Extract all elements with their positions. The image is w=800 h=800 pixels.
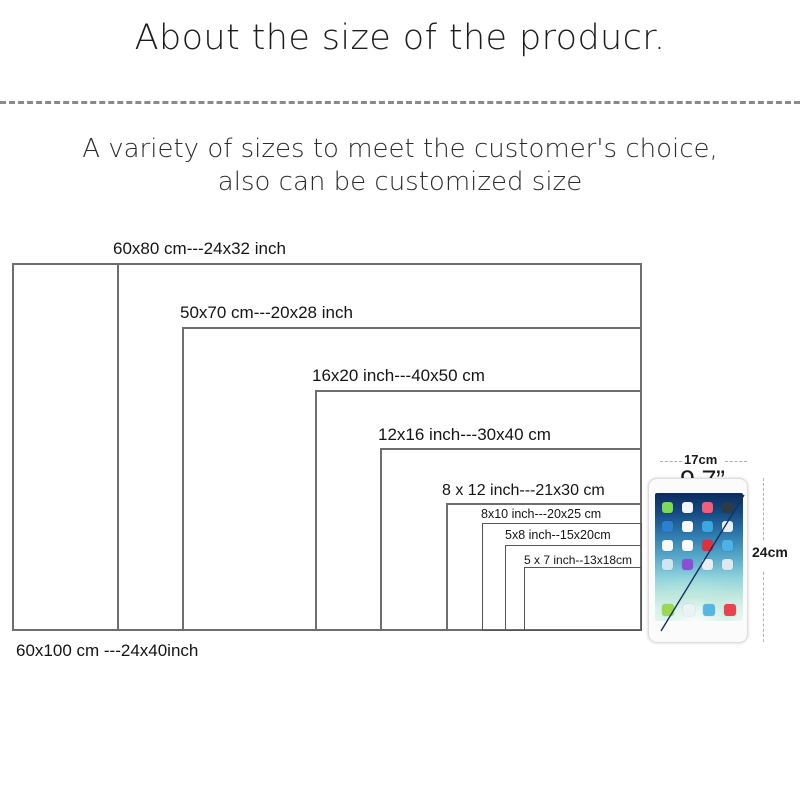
app-icon bbox=[682, 521, 693, 532]
app-icon bbox=[682, 502, 693, 513]
size-label-5x8: 5x8 inch--15x20cm bbox=[505, 528, 611, 542]
size-label-16x20: 16x20 inch---40x50 cm bbox=[312, 366, 485, 386]
size-label-8x10: 8x10 inch---20x25 cm bbox=[481, 507, 601, 521]
app-icon bbox=[722, 540, 733, 551]
tablet-height-label: 24cm bbox=[752, 544, 788, 560]
size-label-5x7: 5 x 7 inch--13x18cm bbox=[524, 553, 632, 567]
size-guide-page: About the size of the producr. A variety… bbox=[0, 0, 800, 800]
page-title: About the size of the producr. bbox=[0, 18, 800, 58]
size-label-60x80: 60x80 cm---24x32 inch bbox=[113, 239, 286, 259]
header-divider bbox=[0, 101, 800, 104]
app-icon bbox=[682, 559, 693, 570]
tablet-body bbox=[648, 478, 748, 643]
app-icon bbox=[702, 521, 713, 532]
app-icon bbox=[724, 604, 736, 616]
app-icon bbox=[662, 604, 674, 616]
app-icon bbox=[702, 540, 713, 551]
app-icon bbox=[722, 521, 733, 532]
subtitle-line-1: A variety of sizes to meet the customer'… bbox=[82, 134, 718, 164]
tablet-illustration bbox=[648, 478, 748, 643]
app-icon bbox=[703, 604, 715, 616]
app-icon bbox=[702, 502, 713, 513]
tablet-width-rule-right bbox=[725, 461, 747, 462]
app-icon bbox=[662, 521, 673, 532]
size-label-12x16: 12x16 inch---30x40 cm bbox=[378, 425, 551, 445]
size-label-50x70: 50x70 cm---20x28 inch bbox=[180, 303, 353, 323]
tablet-dock bbox=[662, 604, 736, 616]
size-label-8x12: 8 x 12 inch---21x30 cm bbox=[442, 482, 605, 500]
app-icon bbox=[722, 502, 733, 513]
size-box-5x7 bbox=[524, 567, 642, 631]
app-icon bbox=[682, 540, 693, 551]
subtitle-line-2: also can be customized size bbox=[0, 166, 800, 199]
size-label-60x100: 60x100 cm ---24x40inch bbox=[16, 641, 198, 661]
tablet-app-grid bbox=[662, 502, 736, 570]
tablet-width-rule-left bbox=[660, 461, 682, 462]
page-subtitle: A variety of sizes to meet the customer'… bbox=[0, 133, 800, 199]
app-icon bbox=[662, 502, 673, 513]
app-icon bbox=[662, 559, 673, 570]
tablet-screen bbox=[655, 493, 743, 621]
size-box-60x80-inner-divider bbox=[117, 263, 119, 631]
app-icon bbox=[662, 540, 673, 551]
app-icon bbox=[722, 559, 733, 570]
tablet-height-rule-top bbox=[763, 478, 764, 540]
app-icon bbox=[683, 604, 695, 616]
app-icon bbox=[702, 559, 713, 570]
tablet-height-rule-bottom bbox=[763, 572, 764, 642]
